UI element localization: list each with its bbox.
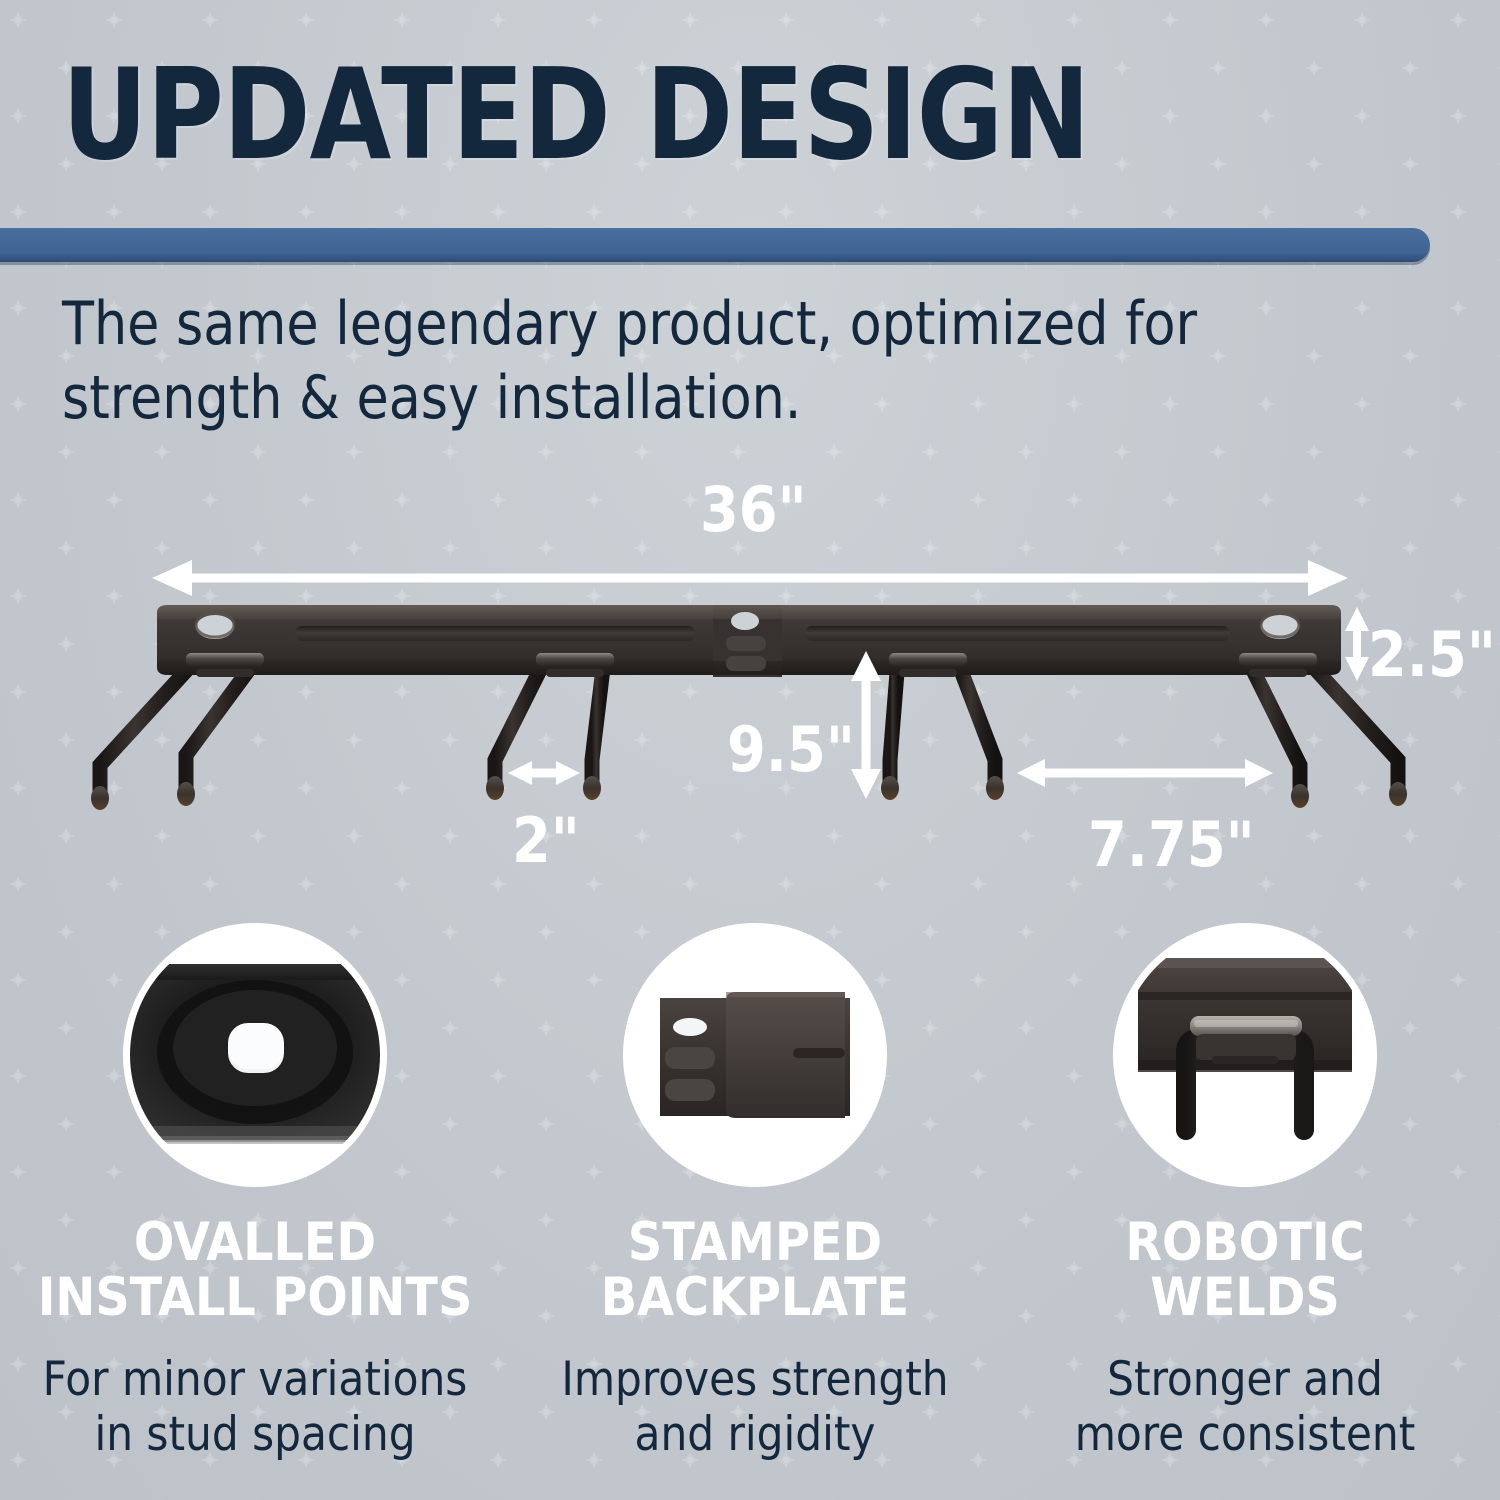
dimension-label-2_5in: 2.5" bbox=[1368, 618, 1496, 691]
feature-heading-1-line2: INSTALL POINTS bbox=[5, 1271, 505, 1326]
feature-list: OVALLED INSTALL POINTS For minor variati… bbox=[0, 930, 1500, 1490]
feature-heading-1-line1: OVALLED bbox=[5, 1216, 505, 1271]
robotic-weld-closeup-icon bbox=[1120, 930, 1370, 1180]
feature-desc-3-line2: more consistent bbox=[995, 1408, 1495, 1463]
feature-heading-2-line2: BACKPLATE bbox=[505, 1271, 1005, 1326]
feature-heading-3-line1: ROBOTIC bbox=[995, 1216, 1495, 1271]
page-title: UPDATED DESIGN bbox=[62, 52, 1089, 178]
feature-robotic-welds: ROBOTIC WELDS Stronger and more consiste… bbox=[995, 930, 1495, 1490]
feature-desc-1-line2: in stud spacing bbox=[5, 1408, 505, 1463]
dimension-arrow-9_5in bbox=[851, 651, 881, 799]
oval-mounting-hole-closeup-icon bbox=[130, 930, 380, 1180]
dimension-label-2in: 2" bbox=[512, 804, 580, 877]
feature-heading-2: STAMPED BACKPLATE bbox=[505, 1216, 1005, 1325]
dimension-label-7_75in: 7.75" bbox=[1088, 808, 1255, 881]
infographic-page: UPDATED DESIGN The same legendary produc… bbox=[0, 0, 1500, 1500]
dimension-arrow-7_75in bbox=[1017, 759, 1273, 787]
accent-divider-bar bbox=[0, 228, 1430, 262]
feature-desc-3-line1: Stronger and bbox=[995, 1353, 1495, 1408]
feature-ovalled-install-points: OVALLED INSTALL POINTS For minor variati… bbox=[5, 930, 505, 1490]
feature-desc-1-line1: For minor variations bbox=[5, 1353, 505, 1408]
feature-desc-2: Improves strength and rigidity bbox=[505, 1353, 1005, 1462]
feature-heading-1: OVALLED INSTALL POINTS bbox=[5, 1216, 505, 1325]
hook-1 bbox=[91, 660, 256, 810]
hook-3 bbox=[881, 660, 1004, 800]
feature-heading-3-line2: WELDS bbox=[995, 1271, 1495, 1326]
feature-heading-2-line1: STAMPED bbox=[505, 1216, 1005, 1271]
dimension-arrow-36in bbox=[152, 560, 1348, 596]
page-subtitle: The same legendary product, optimized fo… bbox=[62, 288, 1381, 436]
feature-image-circle-2 bbox=[630, 930, 880, 1180]
feature-heading-3: ROBOTIC WELDS bbox=[995, 1216, 1495, 1325]
hook-2 bbox=[486, 660, 604, 800]
feature-stamped-backplate: STAMPED BACKPLATE Improves strength and … bbox=[505, 930, 1005, 1490]
feature-desc-2-line2: and rigidity bbox=[505, 1408, 1005, 1463]
rack-bar bbox=[157, 605, 1341, 677]
dimension-arrow-2in bbox=[508, 761, 580, 785]
feature-desc-2-line1: Improves strength bbox=[505, 1353, 1005, 1408]
dimension-label-36in: 36" bbox=[700, 473, 807, 546]
feature-desc-1: For minor variations in stud spacing bbox=[5, 1353, 505, 1462]
feature-desc-3: Stronger and more consistent bbox=[995, 1353, 1495, 1462]
feature-image-circle-1 bbox=[130, 930, 380, 1180]
dimension-label-9_5in: 9.5" bbox=[727, 713, 855, 786]
feature-image-circle-3 bbox=[1120, 930, 1370, 1180]
stamped-backplate-closeup-icon bbox=[630, 930, 880, 1180]
dimension-arrow-2_5in bbox=[1345, 607, 1369, 681]
